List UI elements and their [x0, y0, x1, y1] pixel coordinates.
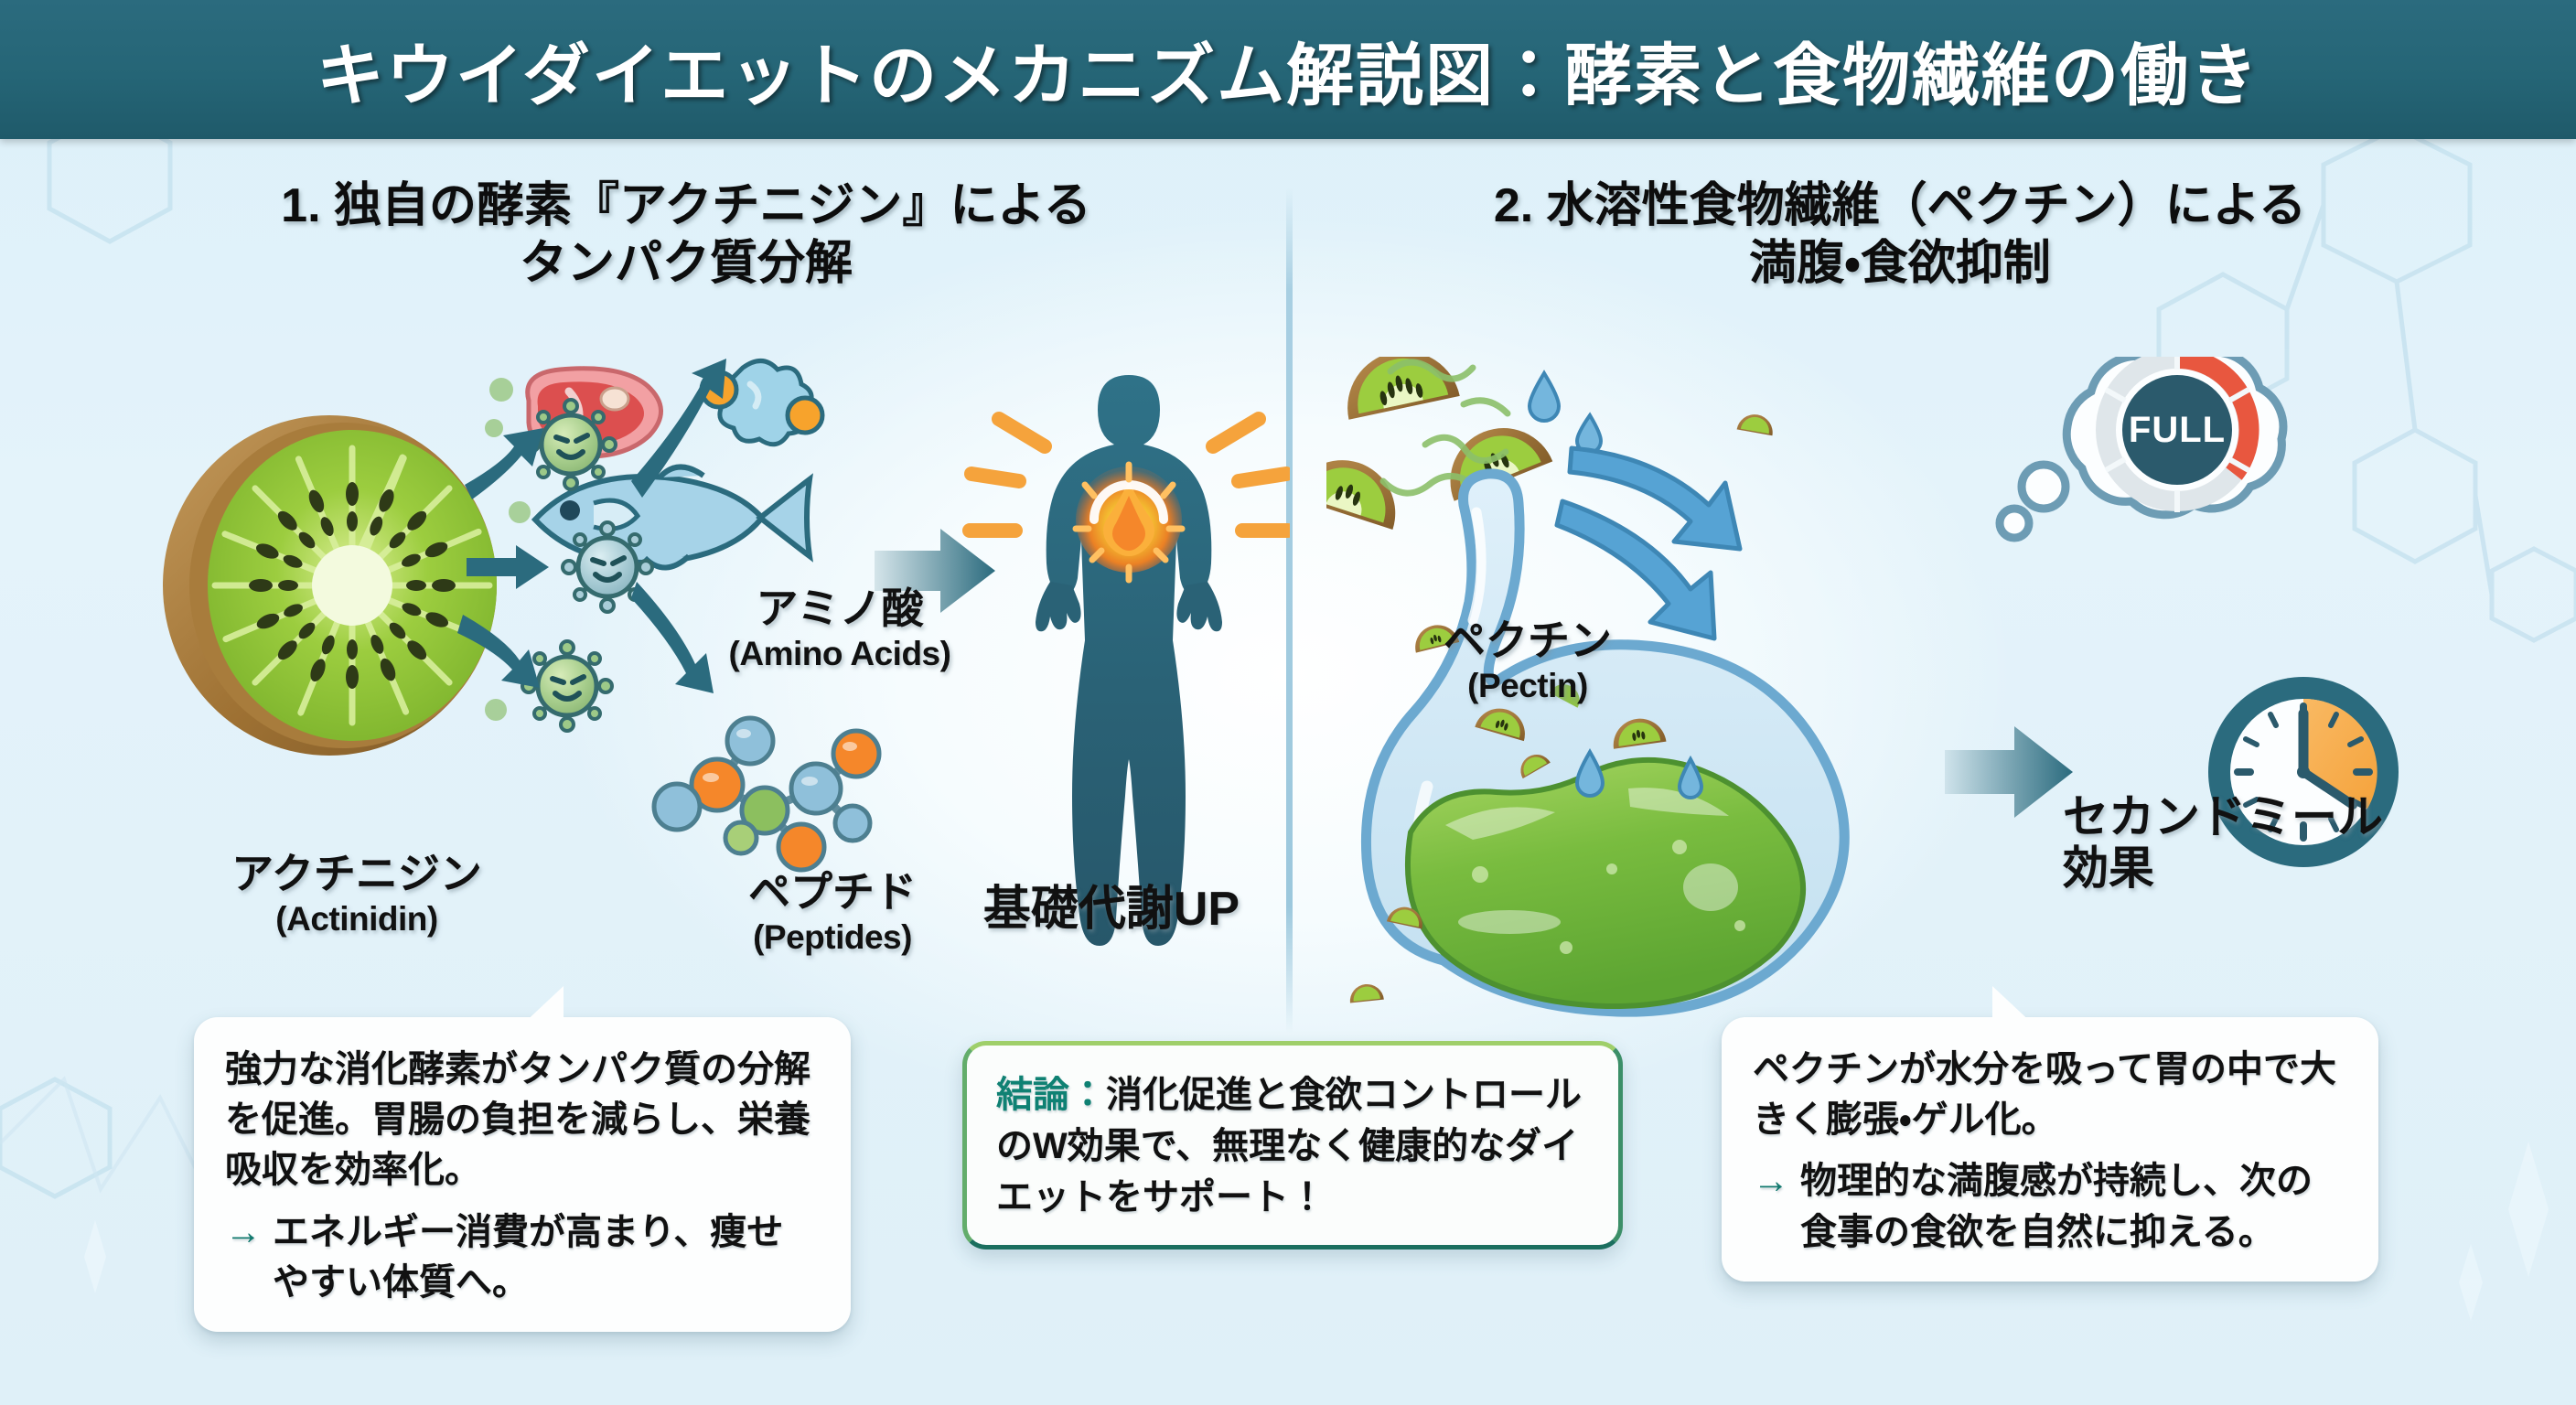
left-heading-line2: タンパク質分解 — [165, 235, 1207, 293]
water-drop-icon — [1529, 373, 1601, 453]
infographic-canvas: キウイダイエットのメカニズム解説図：酵素と食物繊維の働き 1. 独自の酵素『アク… — [0, 0, 2576, 1405]
callout-left: 強力な消化酵素がタンパク質の分解を促進。胃腸の負担を減らし、栄養吸収を効率化。 … — [194, 1017, 851, 1332]
conclusion-lead: 結論： — [996, 1075, 1106, 1115]
gauge-text: FULL — [2129, 410, 2226, 450]
arrow-icon — [1945, 726, 2073, 818]
right-panel-heading: 2. 水溶性食物繊維（ペクチン）による 満腹・食欲抑制 — [1328, 177, 2472, 294]
right-panel-illustration: FULL — [1326, 357, 2552, 1052]
stomach-icon — [1348, 412, 1844, 1012]
second-meal-effect-line1: セカンドミール — [2063, 791, 2493, 842]
callout-conclusion: 結論：消化促進と食欲コントロールのW効果で、無理なく健康的なダイエットをサポート… — [962, 1041, 1623, 1249]
right-heading-line2: 満腹・食欲抑制 — [1328, 235, 2472, 293]
left-panel-heading: 1. 独自の酵素『アクチニジン』による タンパク質分解 — [165, 177, 1207, 294]
metabolism-up-label: 基礎代謝UP — [947, 883, 1276, 936]
amino-acids-label-en: (Amino Acids) — [657, 635, 1023, 672]
callout-right-result-text: 物理的な満腹感が持続し、次の食事の食欲を自然に抑える。 — [1800, 1156, 2347, 1257]
amino-acids-label: アミノ酸 (Amino Acids) — [657, 585, 1023, 672]
molecule-icon — [654, 718, 879, 870]
callout-left-paragraph: 強力な消化酵素がタンパク質の分解を促進。胃腸の負担を減らし、栄養吸収を効率化。 — [225, 1045, 820, 1196]
callout-left-result: → エネルギー消費が高まり、痩せやすい体質へ。 — [225, 1207, 820, 1308]
callout-right-body: ペクチンが水分を吸って胃の中で大きく膨張・ゲル化。 → 物理的な満腹感が持続し、… — [1722, 1017, 2378, 1282]
thought-bubble-icon: FULL — [2000, 357, 2283, 538]
amino-acids-label-jp: アミノ酸 — [657, 585, 1023, 633]
arrow-right-icon: → — [225, 1207, 262, 1258]
pectin-label-jp: ペクチン — [1363, 617, 1692, 665]
left-heading-line1: 1. 独自の酵素『アクチニジン』による — [165, 177, 1207, 235]
arrow-right-icon: → — [1753, 1156, 1789, 1207]
callout-right-result: → 物理的な満腹感が持続し、次の食事の食欲を自然に抑える。 — [1753, 1156, 2347, 1257]
metabolism-up-label-jp: 基礎代謝UP — [947, 883, 1276, 936]
conclusion-body: 結論：消化促進と食欲コントロールのW効果で、無理なく健康的なダイエットをサポート… — [967, 1046, 1618, 1245]
callout-right: ペクチンが水分を吸って胃の中で大きく膨張・ゲル化。 → 物理的な満腹感が持続し、… — [1722, 1017, 2378, 1282]
second-meal-effect-line2: 効果 — [2063, 842, 2493, 894]
title-bar: キウイダイエットのメカニズム解説図：酵素と食物繊維の働き — [0, 0, 2576, 139]
page-title: キウイダイエットのメカニズム解説図：酵素と食物繊維の働き — [317, 21, 2259, 119]
callout-right-paragraph: ペクチンが水分を吸って胃の中で大きく膨張・ゲル化。 — [1753, 1045, 2347, 1145]
right-heading-line1: 2. 水溶性食物繊維（ペクチン）による — [1328, 177, 2472, 235]
pectin-label-en: (Pectin) — [1363, 667, 1692, 704]
actinidin-label-en: (Actinidin) — [165, 900, 549, 938]
pectin-label: ペクチン (Pectin) — [1363, 617, 1692, 704]
callout-left-result-text: エネルギー消費が高まり、痩せやすい体質へ。 — [273, 1207, 820, 1308]
enzyme-character-icon — [526, 400, 616, 489]
callout-left-body: 強力な消化酵素がタンパク質の分解を促進。胃腸の負担を減らし、栄養吸収を効率化。 … — [194, 1017, 851, 1332]
kiwi-slice-icon — [163, 415, 497, 756]
second-meal-effect-label: セカンドミール 効果 — [2063, 791, 2493, 894]
actinidin-label-jp: アクチニジン — [165, 851, 549, 898]
arrow-icon — [1557, 448, 1740, 638]
actinidin-label: アクチニジン (Actinidin) — [165, 851, 549, 938]
